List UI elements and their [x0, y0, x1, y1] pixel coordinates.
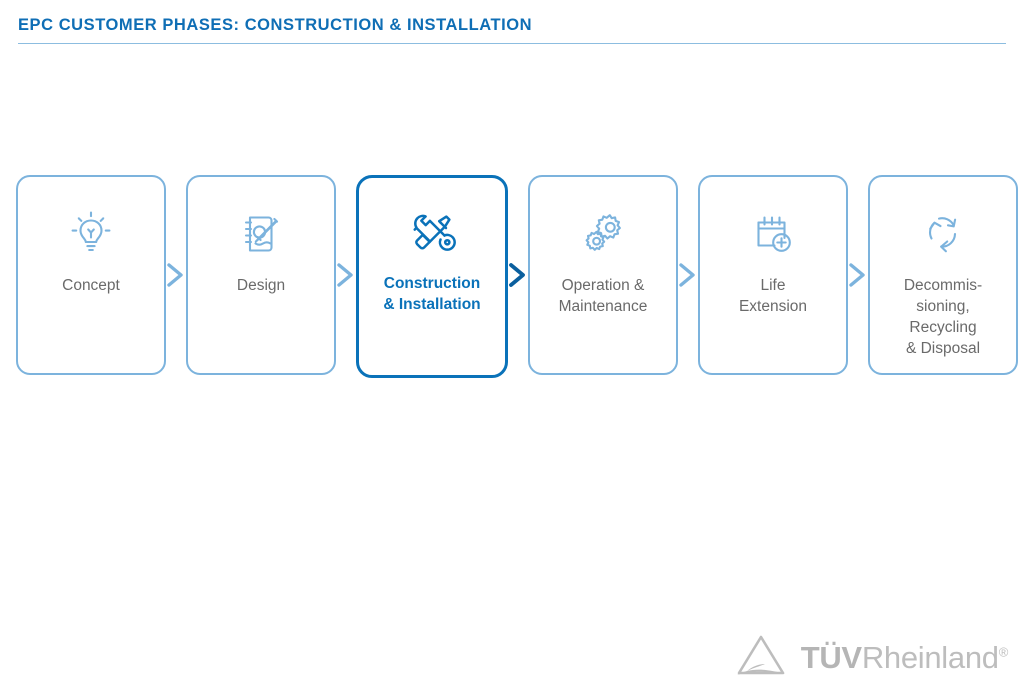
registered-mark: ® — [999, 645, 1008, 660]
phase-label-operation-maintenance: Operation & Maintenance — [553, 275, 654, 317]
arrow-concept-to-design — [167, 175, 185, 375]
arrow-life-extension-to-decommissioning — [849, 175, 867, 375]
page-title: EPC Customer Phases: Construction & Inst… — [18, 16, 1006, 34]
gears-icon — [575, 205, 631, 263]
phase-label-concept: Concept — [56, 275, 126, 296]
calendar-plus-icon — [745, 205, 801, 263]
logo-name-light: Rheinland — [862, 640, 999, 675]
phase-card-life-extension[interactable]: Life Extension — [698, 175, 848, 375]
screwdriver-wrench-icon — [403, 204, 461, 262]
phase-label-design: Design — [231, 275, 291, 296]
tuv-rheinland-wordmark: TÜVRheinland® — [801, 642, 1008, 673]
recycle-arrows-icon — [915, 205, 971, 263]
tuv-triangle-icon — [735, 633, 787, 682]
phase-card-construction-installation[interactable]: Construction & Installation — [356, 175, 508, 378]
arrow-operation-to-life-extension — [679, 175, 697, 375]
arrow-design-to-construction — [337, 175, 355, 375]
page-header: EPC Customer Phases: Construction & Inst… — [18, 16, 1006, 44]
phase-label-construction-installation: Construction & Installation — [377, 273, 486, 315]
phase-flow: Concept Design — [16, 175, 1008, 380]
arrow-construction-to-operation — [509, 175, 527, 375]
phase-label-life-extension: Life Extension — [733, 275, 813, 317]
phase-card-decommissioning-recycling-disposal[interactable]: Decommis- sioning, Recycling & Disposal — [868, 175, 1018, 375]
header-divider — [18, 43, 1006, 44]
logo-name-bold: TÜV — [801, 640, 862, 675]
notebook-pen-icon — [233, 205, 289, 263]
lightbulb-icon — [63, 205, 119, 263]
tuv-rheinland-logo: TÜVRheinland® — [735, 633, 1008, 682]
phase-card-operation-maintenance[interactable]: Operation & Maintenance — [528, 175, 678, 375]
phase-card-design[interactable]: Design — [186, 175, 336, 375]
phase-label-decommissioning-recycling-disposal: Decommis- sioning, Recycling & Disposal — [898, 275, 988, 359]
phase-card-concept[interactable]: Concept — [16, 175, 166, 375]
